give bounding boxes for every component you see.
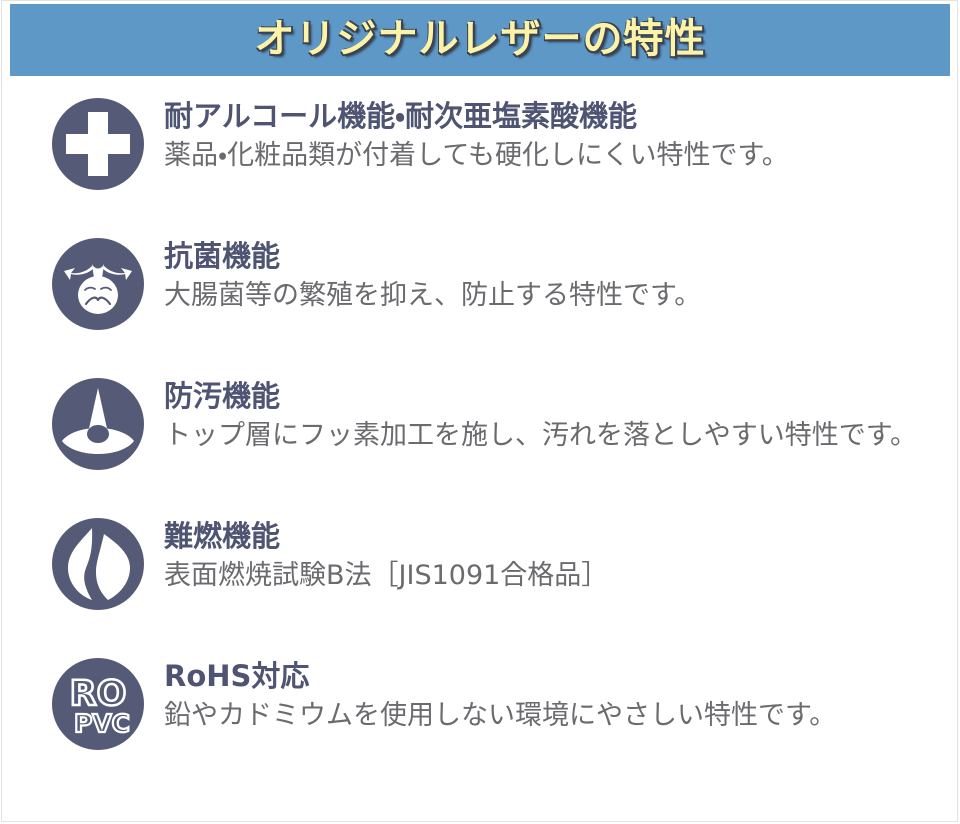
feature-description: 表面燃焼試験B法［JIS1091合格品］: [164, 558, 608, 593]
feature-text: 抗菌機能 大腸菌等の繁殖を抑え、防止する特性です。: [164, 234, 701, 313]
germ-icon: [52, 238, 144, 330]
germ-icon-graphic: [52, 238, 144, 330]
feature-title: 抗菌機能: [164, 238, 701, 275]
feature-row: 難燃機能 表面燃焼試験B法［JIS1091合格品］: [0, 514, 960, 654]
rohs-icon: RO PVC: [52, 658, 144, 750]
feature-text: 難燃機能 表面燃焼試験B法［JIS1091合格品］: [164, 514, 608, 593]
plus-cross-icon-graphic: [52, 98, 144, 190]
rohs-icon-graphic: RO PVC: [52, 658, 144, 750]
plus-cross-icon: [52, 98, 144, 190]
header-bar: オリジナルレザーの特性: [10, 4, 950, 76]
flame-icon-graphic: [52, 518, 144, 610]
feature-title: RoHS対応: [164, 658, 836, 695]
feature-title: 耐アルコール機能・耐次亜塩素酸機能: [164, 98, 789, 135]
feature-description: 薬品・化粧品類が付着しても硬化しにくい特性です。: [164, 138, 789, 173]
feature-row: 抗菌機能 大腸菌等の繁殖を抑え、防止する特性です。: [0, 234, 960, 374]
feature-title: 防汚機能: [164, 378, 917, 415]
flame-icon: [52, 518, 144, 610]
feature-description: トップ層にフッ素加工を施し、汚れを落としやすい特性です。: [164, 418, 917, 453]
feature-row: 耐アルコール機能・耐次亜塩素酸機能 薬品・化粧品類が付着しても硬化しにくい特性で…: [0, 94, 960, 234]
feature-text: 耐アルコール機能・耐次亜塩素酸機能 薬品・化粧品類が付着しても硬化しにくい特性で…: [164, 94, 789, 173]
feature-description: 鉛やカドミウムを使用しない環境にやさしい特性です。: [164, 698, 836, 733]
water-droplet-icon-graphic: [52, 378, 144, 470]
feature-title: 難燃機能: [164, 518, 608, 555]
page-title: オリジナルレザーの特性: [255, 19, 706, 59]
rohs-icon-secondary-label: PVC: [74, 709, 130, 738]
feature-row: RO PVC RoHS対応 鉛やカドミウムを使用しない環境にやさしい特性です。: [0, 654, 960, 794]
feature-text: 防汚機能 トップ層にフッ素加工を施し、汚れを落としやすい特性です。: [164, 374, 917, 453]
feature-list: 耐アルコール機能・耐次亜塩素酸機能 薬品・化粧品類が付着しても硬化しにくい特性で…: [0, 94, 960, 794]
feature-panel: オリジナルレザーの特性 耐アルコール機能・耐次亜塩素酸機能 薬品・化粧品類が付着…: [0, 0, 960, 824]
feature-text: RoHS対応 鉛やカドミウムを使用しない環境にやさしい特性です。: [164, 654, 836, 733]
rohs-icon-primary-label: RO: [70, 674, 127, 714]
feature-row: 防汚機能 トップ層にフッ素加工を施し、汚れを落としやすい特性です。: [0, 374, 960, 514]
feature-description: 大腸菌等の繁殖を抑え、防止する特性です。: [164, 278, 701, 313]
water-droplet-icon: [52, 378, 144, 470]
